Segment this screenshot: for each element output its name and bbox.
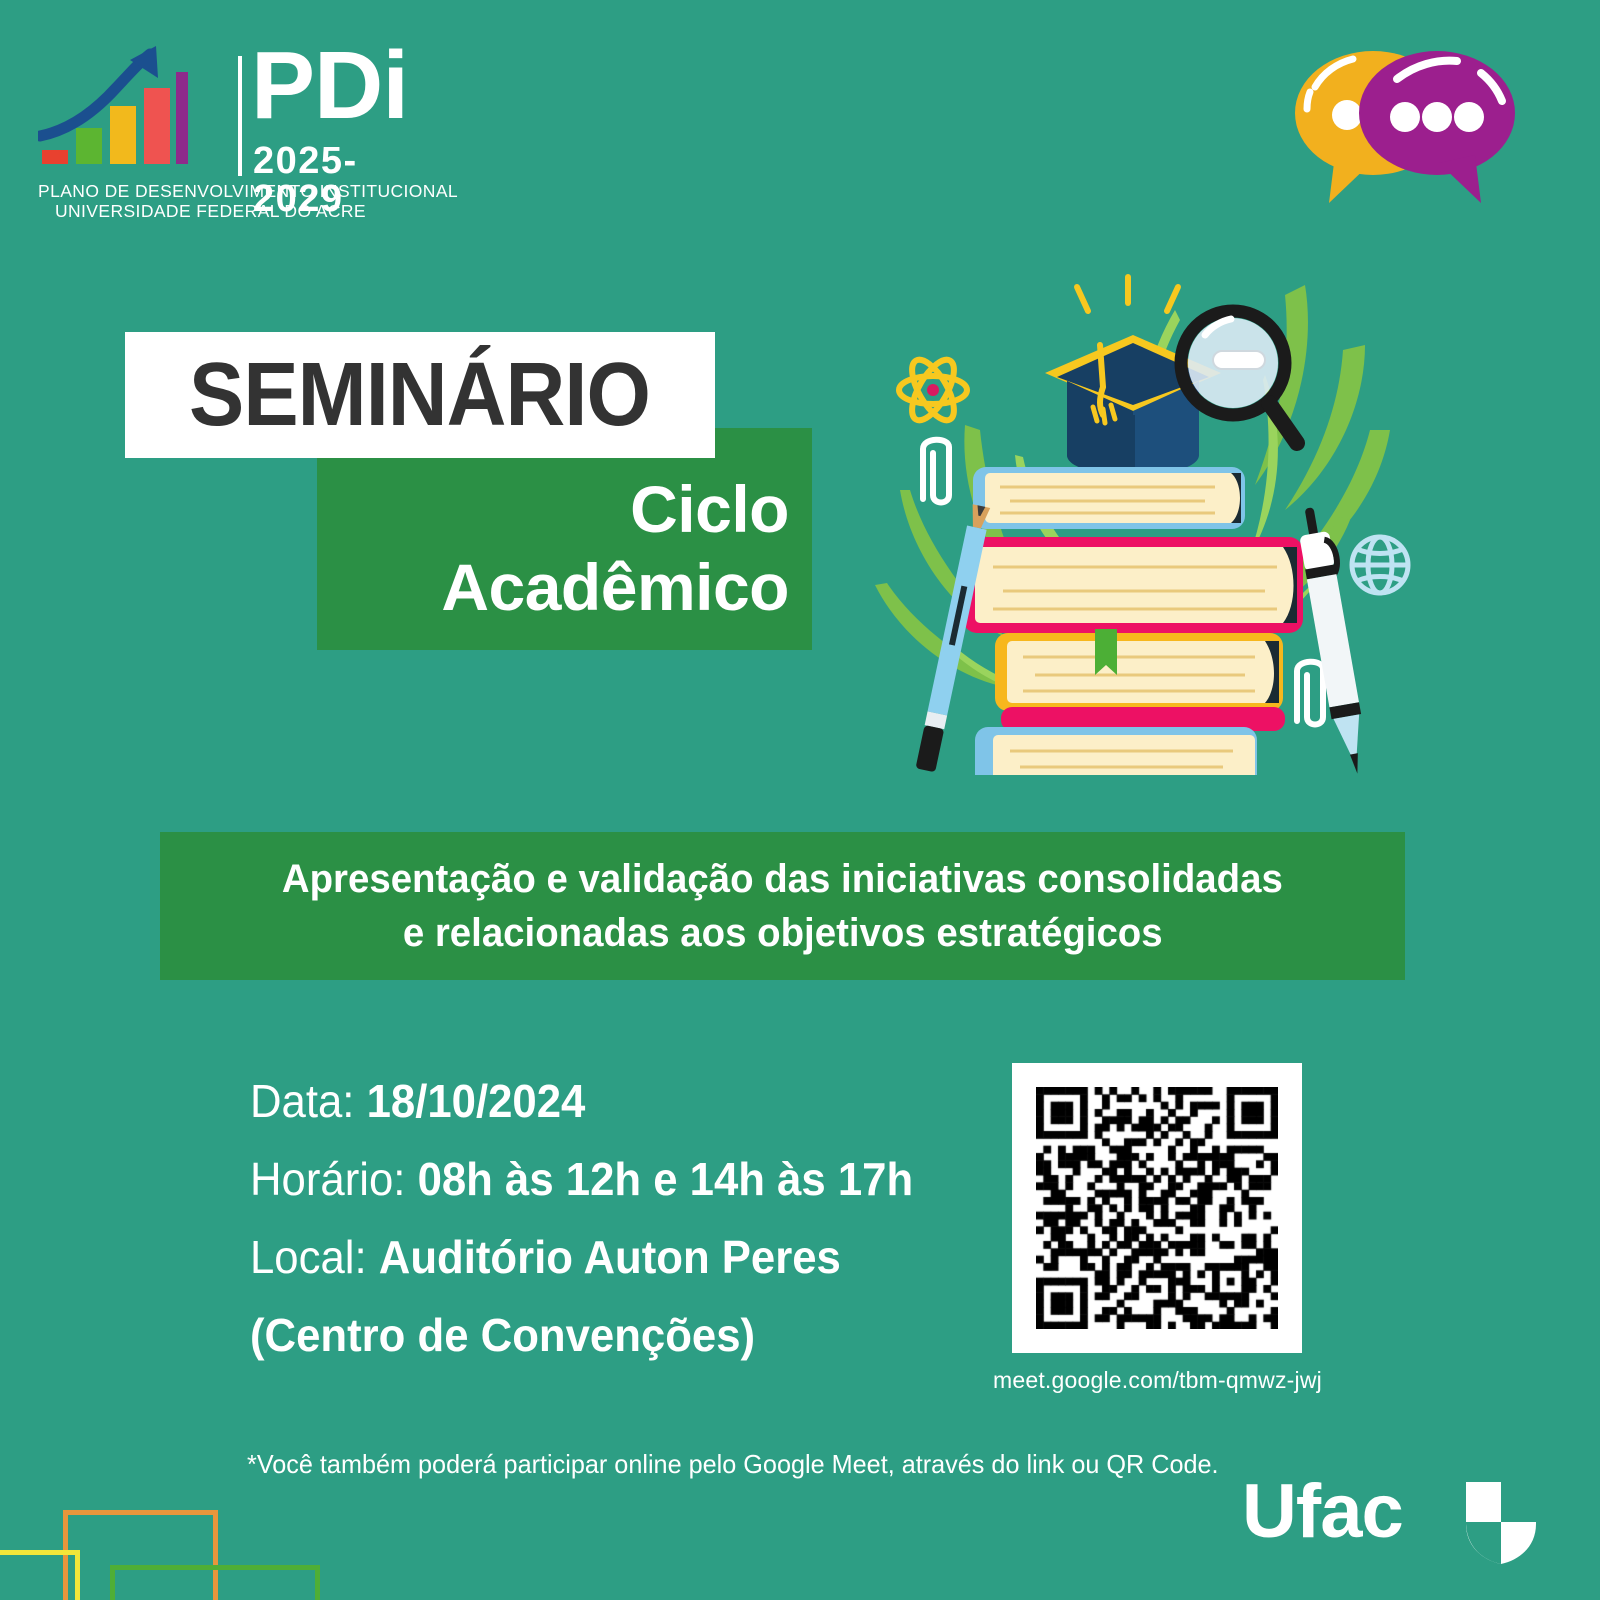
growth-bar-chart-arrow-icon [38, 44, 188, 169]
description-line2: e relacionadas aos objetivos estratégico… [403, 906, 1163, 960]
description-banner: Apresentação e validação das iniciativas… [160, 832, 1405, 980]
headline-subtitle-line2: Acadêmico [317, 548, 789, 626]
qr-code-container[interactable] [1012, 1063, 1302, 1353]
corner-outlined-rectangles-icon [0, 1410, 320, 1600]
detail-place-label: Local: [250, 1231, 367, 1283]
detail-date-label: Data: [250, 1075, 354, 1127]
detail-place-line2: (Centro de Convenções) [250, 1296, 915, 1374]
event-details: Data: 18/10/2024 Horário: 08h às 12h e 1… [250, 1062, 950, 1374]
headline-subtitle-line1: Ciclo [317, 470, 789, 548]
ufac-shield-icon [1460, 1476, 1542, 1566]
footnote-text: *Você também poderá participar online pe… [247, 1448, 1219, 1480]
seminario-headline-box: SEMINÁRIO [125, 332, 715, 458]
pdi-logo: PDi 2025-2029 PLANO DE DESENVOLVIMENTO I… [38, 38, 383, 223]
poster-canvas: PDi 2025-2029 PLANO DE DESENVOLVIMENTO I… [0, 0, 1600, 1600]
detail-time-label: Horário: [250, 1153, 405, 1205]
headline-subtitle: Ciclo Acadêmico [317, 470, 789, 626]
meet-link[interactable]: meet.google.com/tbm-qmwz-jwj [985, 1366, 1330, 1394]
pdi-acronym: PDi [251, 38, 408, 134]
detail-place: Local: Auditório Auton Peres [250, 1218, 915, 1296]
ufac-logo: Ufac [1242, 1468, 1542, 1568]
detail-date-value: 18/10/2024 [367, 1075, 586, 1127]
description-line1: Apresentação e validação das iniciativas… [282, 852, 1283, 906]
detail-place-value: Auditório Auton Peres [379, 1231, 841, 1283]
page-title: SEMINÁRIO [190, 350, 651, 440]
pdi-subtitle-line1: PLANO DE DESENVOLVIMENTO INSTITUCIONAL [38, 182, 383, 201]
detail-time-value: 08h às 12h e 14h às 17h [418, 1153, 914, 1205]
corner-rect-green [110, 1565, 320, 1600]
pdi-divider [238, 56, 242, 176]
speech-bubbles-icon [1285, 35, 1525, 215]
qr-code-icon[interactable] [1036, 1087, 1278, 1329]
detail-date: Data: 18/10/2024 [250, 1062, 915, 1140]
detail-time: Horário: 08h às 12h e 14h às 17h [250, 1140, 915, 1218]
ufac-wordmark: Ufac [1242, 1470, 1403, 1554]
pdi-subtitle-line2: UNIVERSIDADE FEDERAL DO ACRE [38, 202, 383, 221]
stack-of-books-graduation-cap-illustration [845, 255, 1415, 775]
corner-rect-yellow [0, 1550, 80, 1600]
